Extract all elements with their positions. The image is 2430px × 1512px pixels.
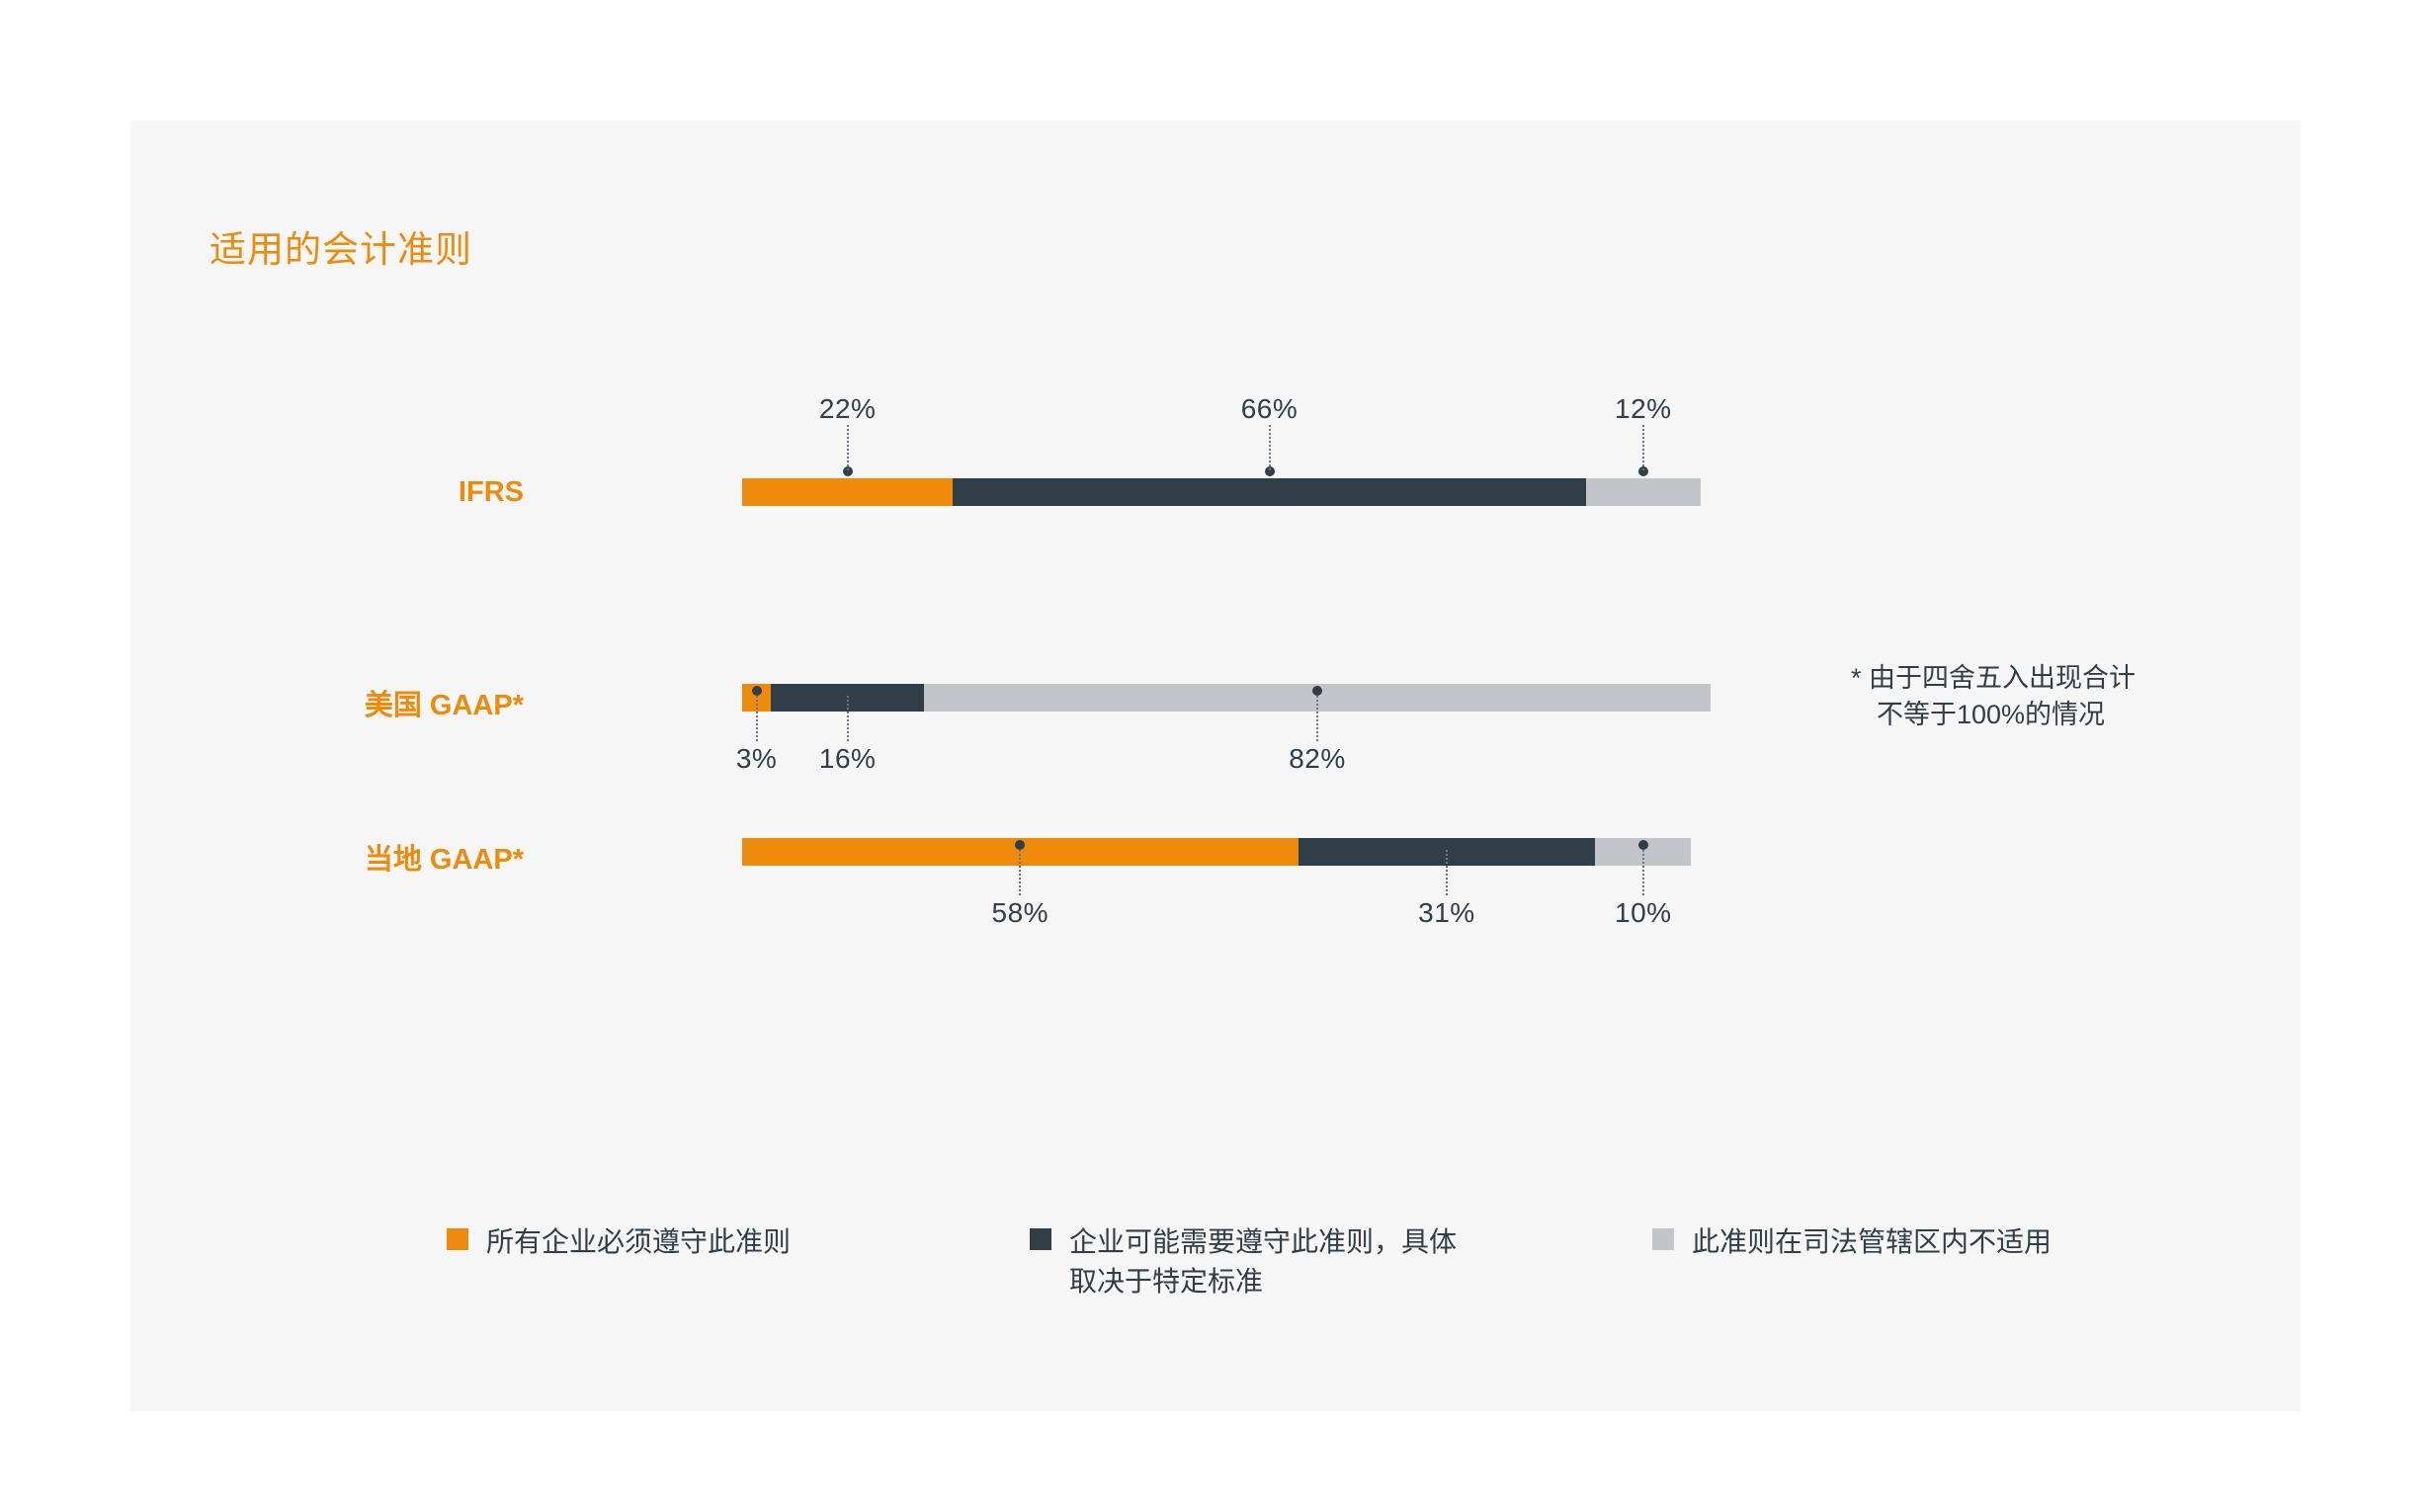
callout-leader-line bbox=[1446, 850, 1450, 895]
callout-value-label: 3% bbox=[736, 743, 777, 775]
page-title: 适用的会计准则 bbox=[209, 219, 472, 273]
callout-dot-icon bbox=[1442, 840, 1452, 850]
legend-swatch-must-comply bbox=[447, 1228, 468, 1250]
legend-item-label: 企业可能需要遵守此准则，具体 取决于特定标准 bbox=[1069, 1222, 1457, 1302]
legend-item[interactable]: 此准则在司法管辖区内不适用 bbox=[1652, 1222, 2052, 1262]
row-label-ifrs: IFRS bbox=[0, 476, 524, 509]
legend-item-label: 所有企业必须遵守此准则 bbox=[486, 1222, 791, 1262]
legend-item[interactable]: 所有企业必须遵守此准则 bbox=[447, 1222, 791, 1262]
legend-swatch-not-applicable bbox=[1652, 1228, 1674, 1250]
stacked-bar bbox=[742, 838, 1691, 866]
callout-leader-line bbox=[1316, 696, 1320, 741]
callout-value-label: 31% bbox=[1418, 897, 1475, 929]
bar-segment-may-comply bbox=[953, 478, 1585, 506]
stacked-bar bbox=[742, 478, 1701, 506]
callout-leader-line bbox=[1642, 850, 1646, 895]
callout-leader-line bbox=[1269, 425, 1273, 470]
callout-value-label: 16% bbox=[819, 743, 877, 775]
callout-value-label: 66% bbox=[1241, 393, 1299, 425]
chart-canvas: 适用的会计准则 IFRS22%66%12%美国 GAAP*3%16%82%当地 … bbox=[130, 121, 2301, 1411]
callout-value-label: 10% bbox=[1615, 897, 1672, 929]
callout-dot-icon bbox=[843, 686, 853, 696]
bar-segment-must-comply bbox=[742, 478, 953, 506]
callout-dot-icon bbox=[1312, 686, 1322, 696]
callout-value-label: 58% bbox=[992, 897, 1049, 929]
footnote: * 由于四舍五入出现合计 不等于100%的情况 bbox=[1851, 660, 2136, 734]
legend-item[interactable]: 企业可能需要遵守此准则，具体 取决于特定标准 bbox=[1030, 1222, 1457, 1302]
callout-dot-icon bbox=[1638, 840, 1648, 850]
chart-legend: 所有企业必须遵守此准则企业可能需要遵守此准则，具体 取决于特定标准此准则在司法管… bbox=[447, 1222, 2225, 1331]
row-label-us-gaap: 美国 GAAP* bbox=[0, 682, 524, 723]
callout-value-label: 12% bbox=[1615, 393, 1672, 425]
callout-leader-line bbox=[847, 696, 851, 741]
footnote-line-1: * 由于四舍五入出现合计 bbox=[1851, 660, 2136, 697]
legend-swatch-may-comply bbox=[1030, 1228, 1051, 1250]
callout-value-label: 82% bbox=[1289, 743, 1346, 775]
footnote-line-2: 不等于100%的情况 bbox=[1851, 697, 2136, 733]
callout-leader-line bbox=[756, 696, 760, 741]
callout-leader-line bbox=[1019, 850, 1023, 895]
row-label-local-gaap: 当地 GAAP* bbox=[0, 836, 524, 878]
bar-segment-not-applicable bbox=[1586, 478, 1701, 506]
stacked-bar bbox=[742, 684, 1711, 712]
callout-dot-icon bbox=[752, 686, 762, 696]
callout-leader-line bbox=[1642, 425, 1646, 470]
legend-item-label: 此准则在司法管辖区内不适用 bbox=[1692, 1222, 2052, 1262]
callout-value-label: 22% bbox=[819, 393, 877, 425]
callout-leader-line bbox=[847, 425, 851, 470]
